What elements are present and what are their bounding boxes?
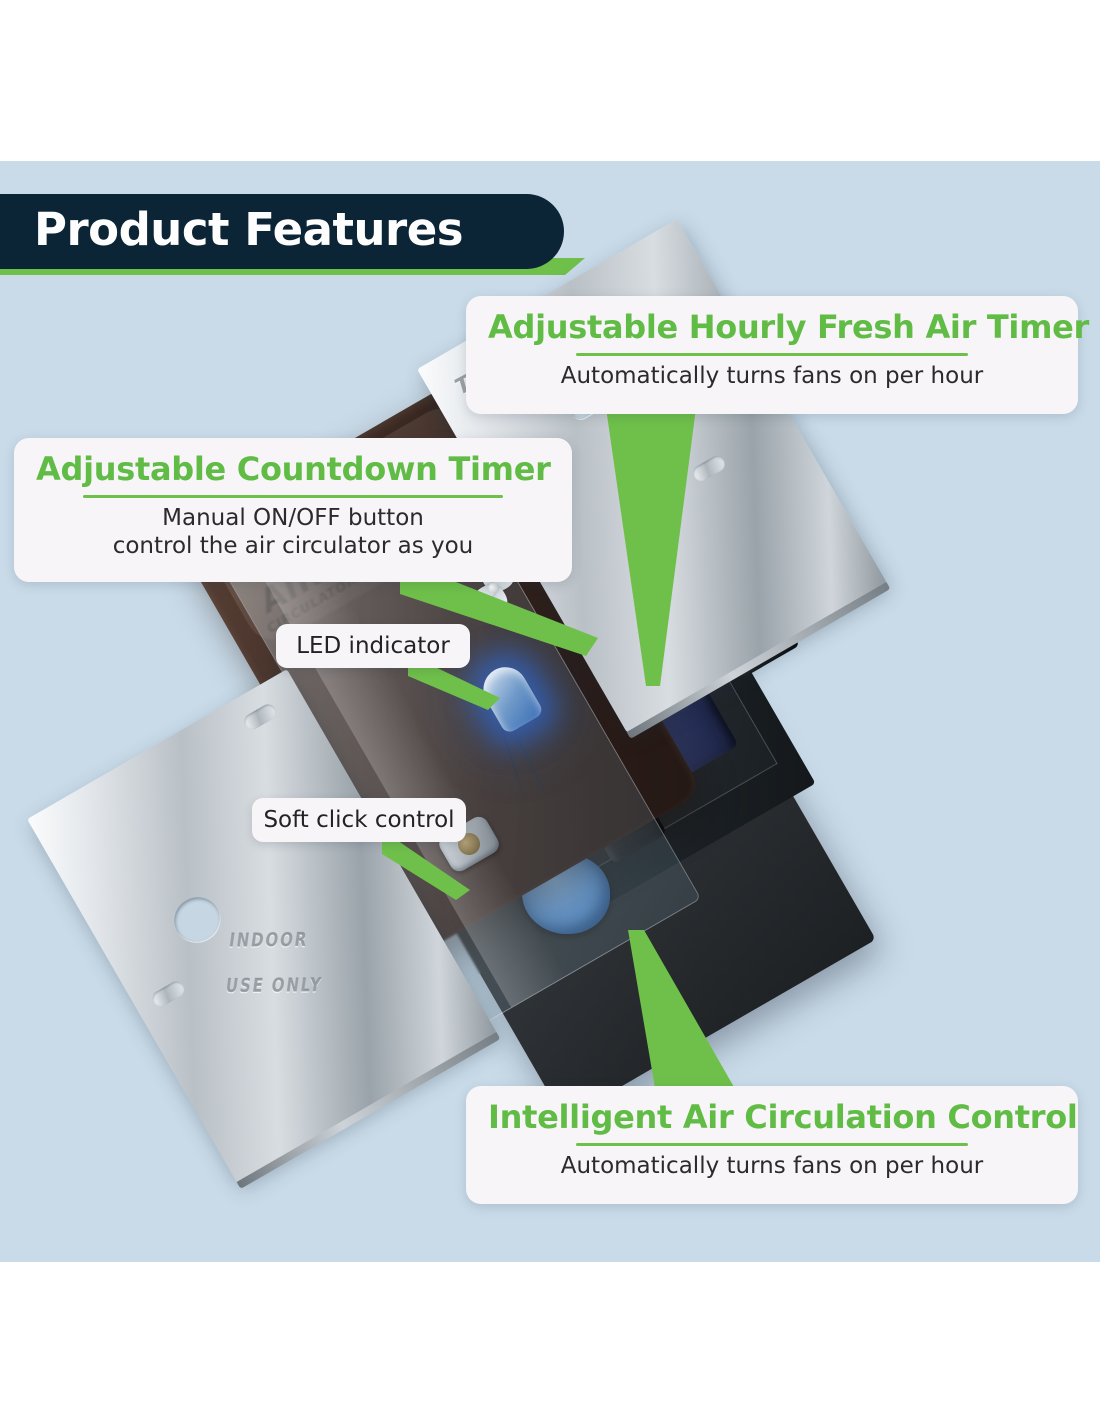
callout-hourly-timer: Adjustable Hourly Fresh Air Timer Automa… (466, 296, 1078, 414)
faceplate-useonly-text: USE ONLY (224, 974, 324, 997)
callout-title: Intelligent Air Circulation Control (488, 1098, 1056, 1136)
callout-divider (83, 495, 503, 498)
tag-led-indicator: LED indicator (276, 624, 470, 668)
callout-subtitle-line1: Manual ON/OFF button (36, 504, 550, 532)
callout-divider (576, 1143, 968, 1146)
mounting-screw-slot (150, 978, 187, 1009)
callout-title: Adjustable Hourly Fresh Air Timer (488, 308, 1056, 346)
faceplate-edge (237, 1032, 501, 1189)
callout-subtitle-line2: control the air circulator as you (36, 532, 550, 560)
mounting-screw-slot (241, 701, 278, 732)
tag-soft-click-control: Soft click control (252, 798, 466, 842)
mounting-screw-slot (690, 453, 727, 484)
faceplate-indoor-text: INDOOR (228, 929, 310, 952)
callout-countdown-timer: Adjustable Countdown Timer Manual ON/OFF… (14, 438, 572, 582)
mounting-hole (166, 889, 228, 950)
infographic-page: Product Features (0, 0, 1100, 1422)
callout-air-circulation: Intelligent Air Circulation Control Auto… (466, 1086, 1078, 1204)
callout-subtitle: Automatically turns fans on per hour (488, 1152, 1056, 1180)
callout-subtitle: Automatically turns fans on per hour (488, 362, 1056, 390)
callout-divider (576, 353, 968, 356)
callout-title: Adjustable Countdown Timer (36, 450, 550, 488)
